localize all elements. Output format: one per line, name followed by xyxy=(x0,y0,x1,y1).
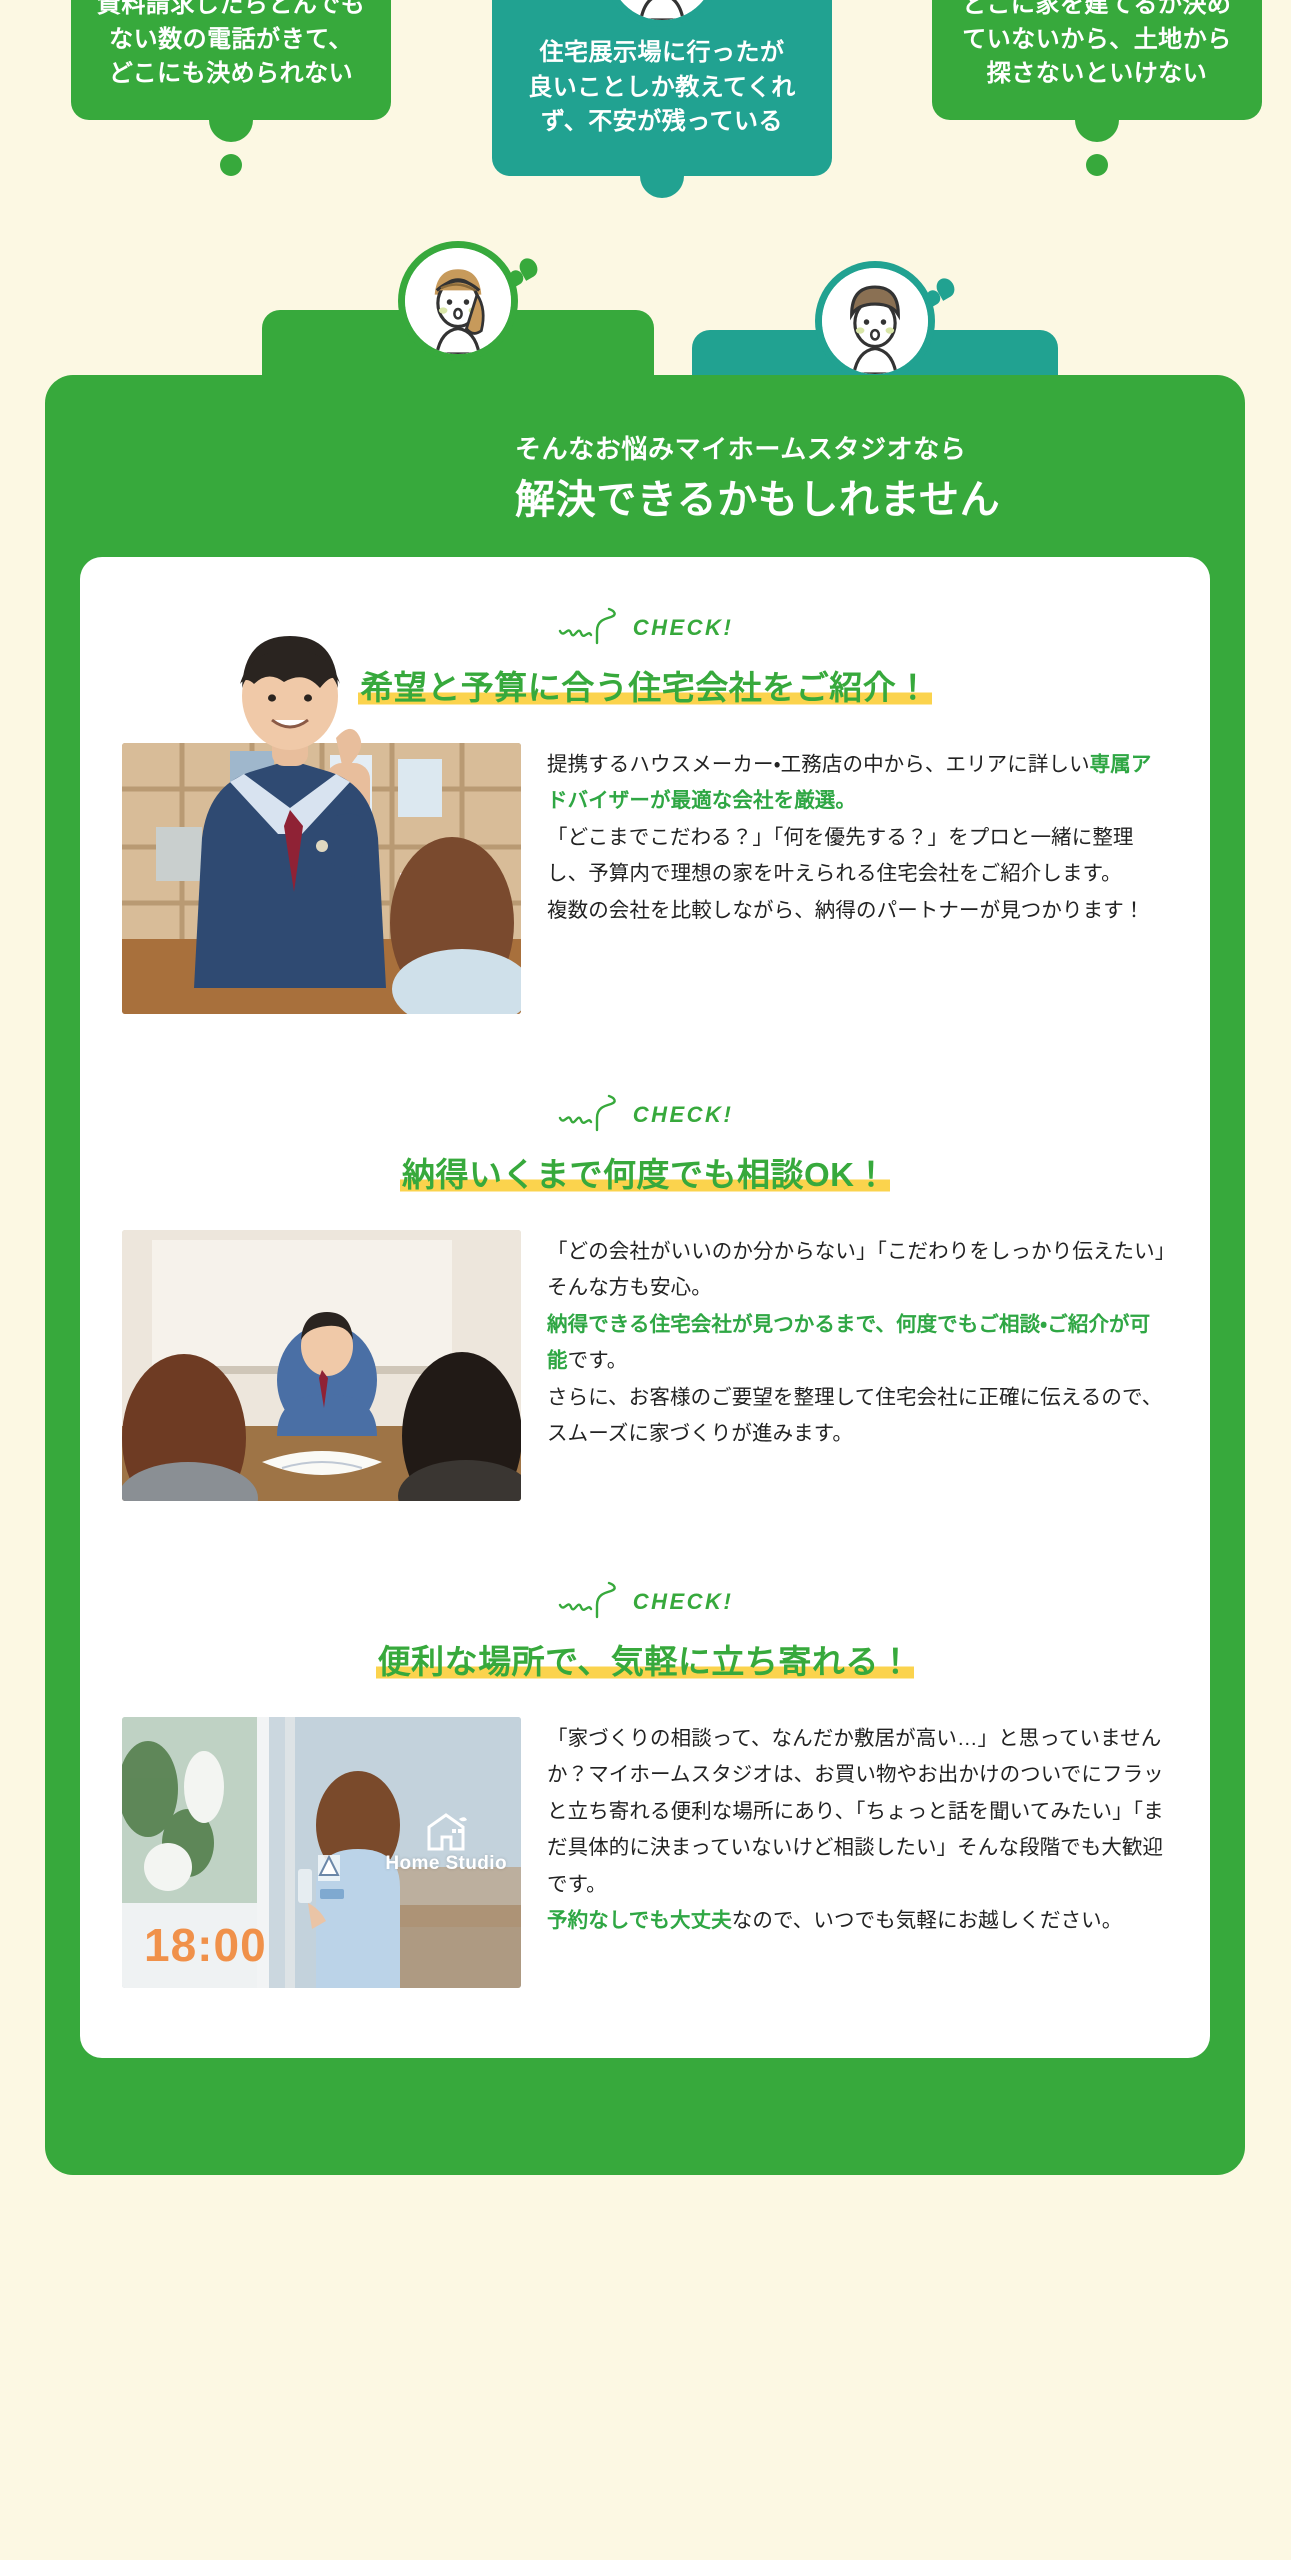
check-title-3: 便利な場所で、気軽に立ち寄れる！ xyxy=(122,1635,1168,1683)
bubble-line: 探さないといけない xyxy=(962,57,1232,92)
worry-bubble-1: 資料請求したらとんでも ない数の電話がきて、 どこにも決められない xyxy=(71,0,391,120)
bubble-line: ない数の電話がきて、 xyxy=(97,23,365,58)
check-block-2: CHECK! 納得いくまで何度でも相談OK！ xyxy=(122,1092,1168,1501)
text-run: なので、いつでも気軽にお越しください。 xyxy=(732,1909,1123,1932)
text-run: 複数の会社を比較しながら、納得のパートナーが見つかります！ xyxy=(547,899,1144,922)
check-photo-1 xyxy=(122,743,521,1014)
text-run: 提携するハウスメーカー・工務店の中から、エリアに詳しい xyxy=(547,753,1090,776)
check-text-3: 「家づくりの相談って、なんだか敷居が高い…」と思っていませんか？マイホームスタジ… xyxy=(547,1717,1168,1940)
check-body-3: Home Studio 18:00 「家づくりの相談って、なんだか敷居が高い…」… xyxy=(122,1717,1168,1988)
squiggle-arrow-icon xyxy=(557,605,629,647)
store-hours-time: 18:00 xyxy=(144,1918,267,1972)
check-badge-label: CHECK! xyxy=(633,1104,734,1134)
text-run: 「どこまでこだわる？」「何を優先する？」をプロと一緒に整理し、予算内で理想の家を… xyxy=(547,826,1134,885)
squiggle-arrow-icon xyxy=(557,1092,629,1134)
check-photo-2 xyxy=(122,1230,521,1501)
bubble-tail xyxy=(209,112,253,142)
panel-heading: そんなお悩みマイホームスタジオなら 解決できるかもしれません xyxy=(45,375,1245,557)
bubble-line: 良いことしか教えてくれ xyxy=(528,71,796,106)
text-run-highlight: 納得できる住宅会社が見つかるまで、何度でもご相談・ご紹介が可能 xyxy=(547,1313,1150,1372)
bubble-line: ていないから、土地から xyxy=(962,23,1232,58)
check-badge: CHECK! xyxy=(122,605,1168,647)
bubble-line: どこにも決められない xyxy=(97,57,365,92)
check-block-1: CHECK! 希望と予算に合う住宅会社をご紹介！ xyxy=(122,605,1168,1014)
check-badge: CHECK! xyxy=(122,1579,1168,1621)
text-run: 「どの会社がいいのか分からない」「こだわりをしっかり伝えたい」そんな方も安心。 xyxy=(547,1240,1165,1299)
check-title-text: 便利な場所で、気軽に立ち寄れる！ xyxy=(376,1643,915,1680)
panel-heading-big: 解決できるかもしれません xyxy=(515,473,1245,527)
worry-bubble-2: 住宅展示場に行ったが 良いことしか教えてくれ ず、不安が残っている xyxy=(492,0,832,176)
check-body-1: 提携するハウスメーカー・工務店の中から、エリアに詳しい専属アドバイザーが最適な会… xyxy=(122,743,1168,1014)
store-logo-text: Home Studio xyxy=(385,1853,507,1874)
check-text-2: 「どの会社がいいのか分からない」「こだわりをしっかり伝えたい」そんな方も安心。 … xyxy=(547,1230,1168,1453)
solution-panel: そんなお悩みマイホームスタジオなら 解決できるかもしれません CHECK! 希望… xyxy=(45,375,1245,2175)
sweat-drops-icon xyxy=(510,258,536,288)
check-badge-label: CHECK! xyxy=(633,617,734,647)
squiggle-arrow-icon xyxy=(557,1579,629,1621)
worry-bubble-2-text: 住宅展示場に行ったが 良いことしか教えてくれ ず、不安が残っている xyxy=(528,36,796,140)
bubble-line: ず、不安が残っている xyxy=(528,105,796,140)
text-run: さらに、お客様のご要望を整理して住宅会社に正確に伝えるので、スムーズに家づくりが… xyxy=(547,1386,1162,1445)
check-title-text: 納得いくまで何度でも相談OK！ xyxy=(400,1156,890,1193)
check-block-3: CHECK! 便利な場所で、気軽に立ち寄れる！ xyxy=(122,1579,1168,1988)
text-run: 「家づくりの相談って、なんだか敷居が高い…」と思っていませんか？マイホームスタジ… xyxy=(547,1727,1164,1896)
bubble-line: 資料請求したらとんでも xyxy=(97,0,365,23)
check-title-1: 希望と予算に合う住宅会社をご紹介！ xyxy=(122,661,1168,709)
store-logo: Home Studio xyxy=(385,1811,507,1875)
check-title-2: 納得いくまで何度でも相談OK！ xyxy=(122,1148,1168,1196)
bubble-tail-dot xyxy=(220,154,242,176)
home-studio-logo-icon xyxy=(423,1811,469,1851)
check-badge: CHECK! xyxy=(122,1092,1168,1134)
avatar xyxy=(405,248,511,354)
worry-bubble-1-text: 資料請求したらとんでも ない数の電話がきて、 どこにも決められない xyxy=(97,0,365,92)
check-photo-3: Home Studio 18:00 xyxy=(122,1717,521,1988)
bubble-line: どこに家を建てるか決め xyxy=(962,0,1232,23)
bubble-tail xyxy=(640,168,684,198)
bubble-line: 住宅展示場に行ったが xyxy=(528,36,796,71)
check-text-1: 提携するハウスメーカー・工務店の中から、エリアに詳しい専属アドバイザーが最適な会… xyxy=(547,743,1168,929)
check-title-text: 希望と予算に合う住宅会社をご紹介！ xyxy=(358,669,932,706)
bubble-tail-dot xyxy=(1086,154,1108,176)
sweat-drops-icon xyxy=(927,278,953,308)
bubble-tail xyxy=(1075,112,1119,142)
worry-bubble-3-text: どこに家を建てるか決め ていないから、土地から 探さないといけない xyxy=(962,0,1232,92)
avatar xyxy=(822,268,928,374)
check-body-2: 「どの会社がいいのか分からない」「こだわりをしっかり伝えたい」そんな方も安心。 … xyxy=(122,1230,1168,1501)
check-badge-label: CHECK! xyxy=(633,1591,734,1621)
checks-card: CHECK! 希望と予算に合う住宅会社をご紹介！ xyxy=(80,557,1210,2058)
avatar xyxy=(609,0,715,20)
text-run: です。 xyxy=(568,1349,628,1372)
panel-heading-small: そんなお悩みマイホームスタジオなら xyxy=(515,430,1245,469)
worry-bubble-3: どこに家を建てるか決め ていないから、土地から 探さないといけない xyxy=(932,0,1262,120)
text-run-highlight: 予約なしでも大丈夫 xyxy=(547,1909,732,1932)
